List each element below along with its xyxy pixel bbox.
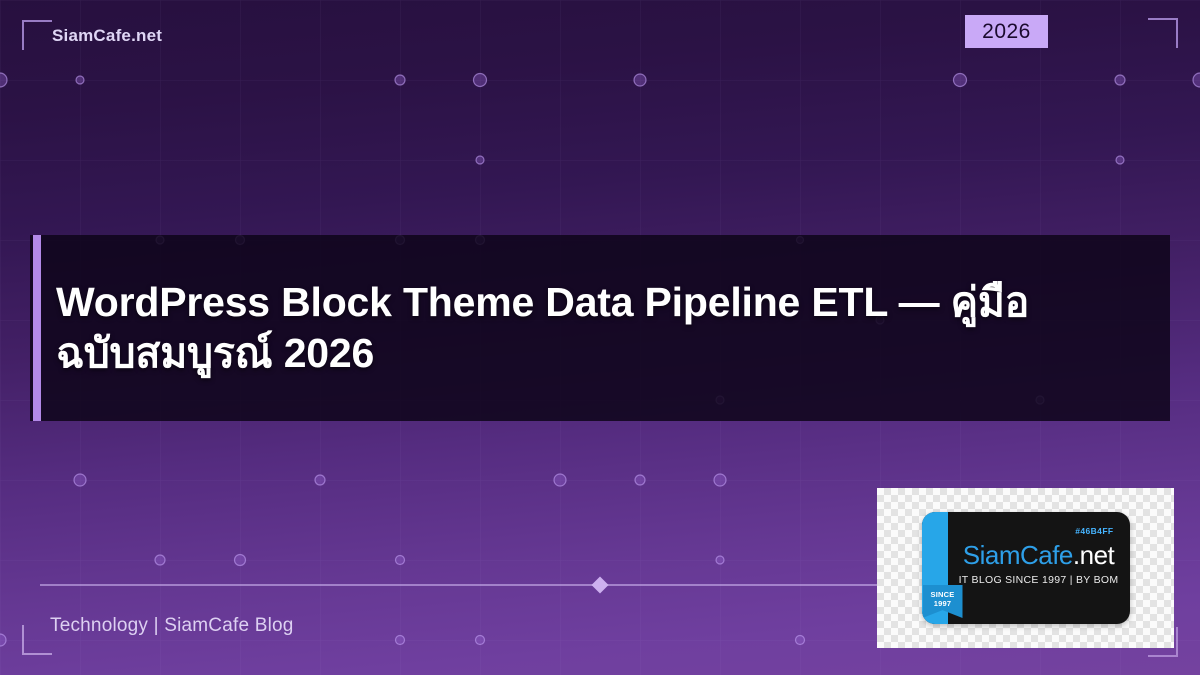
category-label: Technology | SiamCafe Blog bbox=[50, 615, 294, 637]
logo-wordmark-suffix: .net bbox=[1073, 540, 1114, 570]
logo-wordmark-primary: SiamCafe bbox=[963, 540, 1073, 570]
banner-canvas: SiamCafe.net 2026 WordPress Block Theme … bbox=[0, 0, 1200, 675]
title-accent-bar bbox=[33, 235, 41, 421]
logo-tagline: IT BLOG SINCE 1997 | BY BOM bbox=[959, 574, 1119, 586]
corner-bracket-top-left bbox=[22, 20, 52, 50]
diamond-marker-icon bbox=[592, 577, 609, 594]
logo-badge: SINCE 1997 #46B4FF SiamCafe.net IT BLOG … bbox=[922, 512, 1130, 624]
corner-bracket-top-right bbox=[1148, 18, 1178, 48]
page-title: WordPress Block Theme Data Pipeline ETL … bbox=[30, 277, 1090, 379]
site-name: SiamCafe.net bbox=[52, 26, 162, 46]
logo-wordmark: SiamCafe.net bbox=[963, 540, 1115, 571]
title-band: WordPress Block Theme Data Pipeline ETL … bbox=[30, 235, 1170, 421]
year-badge: 2026 bbox=[965, 15, 1048, 48]
logo-body: #46B4FF SiamCafe.net IT BLOG SINCE 1997 … bbox=[948, 512, 1130, 624]
corner-bracket-bottom-left bbox=[22, 625, 52, 655]
logo-hex-code: #46B4FF bbox=[1075, 526, 1113, 536]
logo-card: SINCE 1997 #46B4FF SiamCafe.net IT BLOG … bbox=[877, 488, 1174, 648]
